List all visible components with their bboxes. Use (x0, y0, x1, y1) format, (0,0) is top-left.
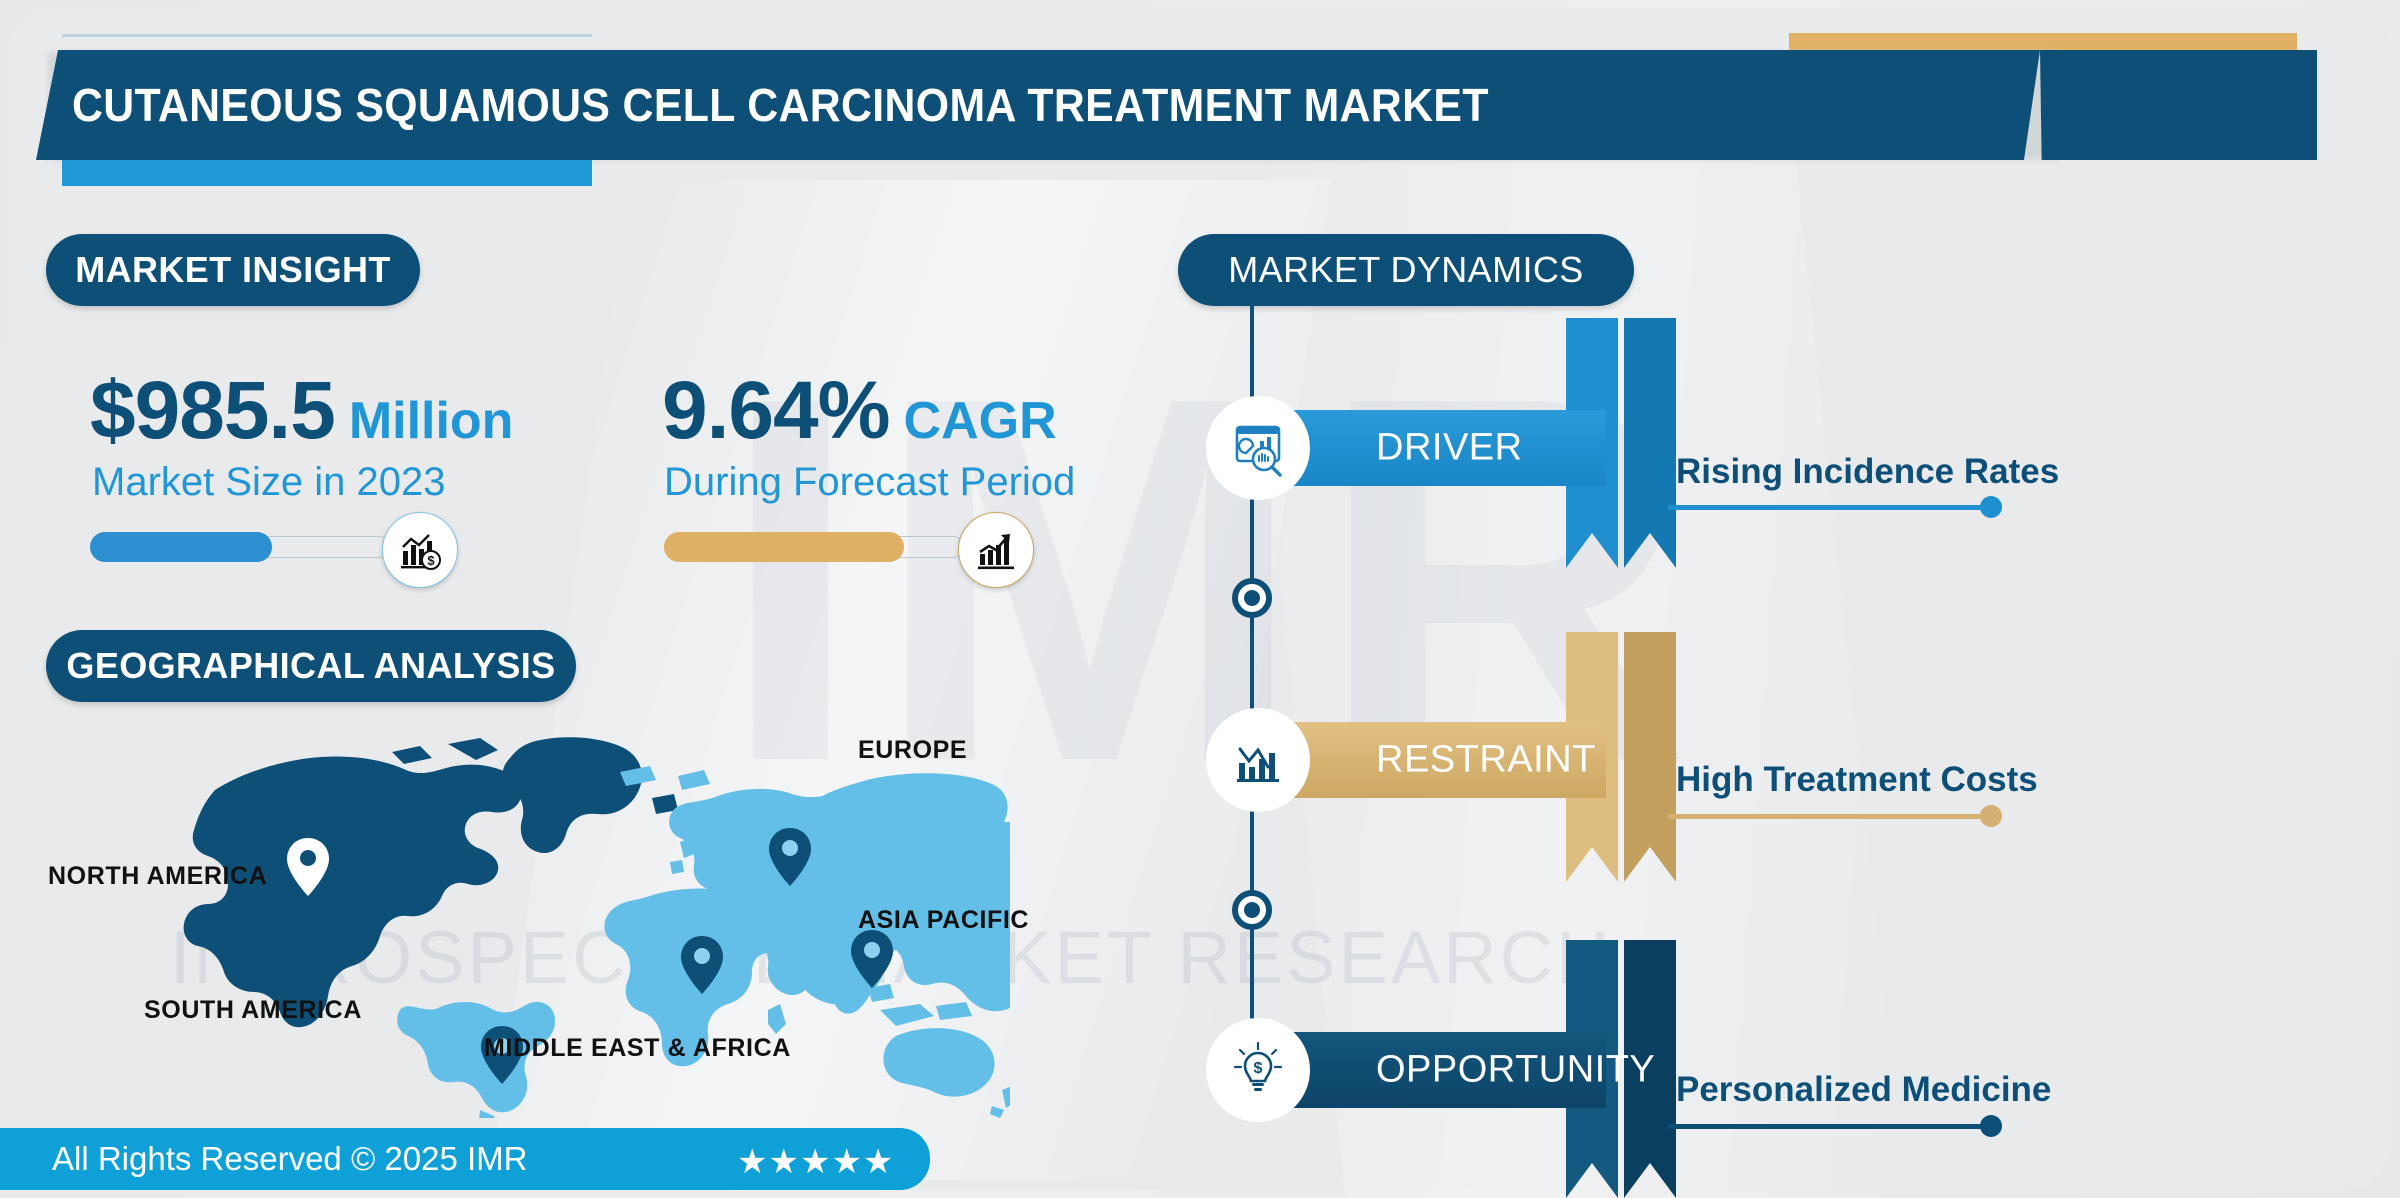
driver-bar: DRIVER (1258, 410, 1606, 486)
restraint-text: High Treatment Costs (1676, 760, 2038, 800)
map-label-middle-east-africa: MIDDLE EAST & AFRICA (484, 1034, 791, 1063)
opportunity-connector (1668, 1124, 1990, 1129)
driver-label: DRIVER (1376, 427, 1523, 470)
market-size-value-group: $985.5Million (90, 370, 513, 452)
opportunity-label: OPPORTUNITY (1376, 1049, 1655, 1092)
copyright-text: All Rights Reserved © 2025 IMR (52, 1140, 528, 1178)
cagr-unit: CAGR (904, 392, 1057, 450)
opportunity-text: Personalized Medicine (1676, 1070, 2051, 1110)
rating-stars: ★★★★★ (737, 1142, 894, 1182)
restraint-label: RESTRAINT (1376, 739, 1596, 782)
cagr-value-group: 9.64%CAGR (662, 370, 1057, 452)
lightbulb-dollar-icon: $ (1206, 1018, 1310, 1122)
chart-analysis-icon (1206, 396, 1310, 500)
restraint-endpoint-dot (1980, 805, 2002, 827)
page-title: CUTANEOUS SQUAMOUS CELL CARCINOMA TREATM… (72, 50, 1489, 160)
svg-text:$: $ (1254, 1060, 1263, 1077)
header-bar-right (2040, 50, 2317, 160)
market-insight-label: MARKET INSIGHT (75, 249, 391, 291)
driver-text: Rising Incidence Rates (1676, 452, 2059, 492)
market-size-caption: Market Size in 2023 (92, 460, 446, 505)
driver-connector (1668, 505, 1990, 510)
svg-text:$: $ (427, 553, 435, 568)
opportunity-endpoint-dot (1980, 1115, 2002, 1137)
map-label-europe: EUROPE (858, 736, 967, 765)
growth-arrow-icon (958, 512, 1034, 588)
declining-chart-icon (1206, 708, 1310, 812)
market-insight-pill: MARKET INSIGHT (46, 234, 420, 306)
header-blue-strip (62, 160, 592, 186)
restraint-bar: RESTRAINT (1258, 722, 1606, 798)
cagr-value: 9.64% (662, 365, 890, 456)
map-label-south-america: SOUTH AMERICA (144, 996, 362, 1025)
dynamics-node-1 (1232, 578, 1272, 618)
header-thin-rule (62, 34, 592, 37)
market-size-unit: Million (349, 392, 514, 450)
map-label-north-america: NORTH AMERICA (48, 862, 267, 891)
market-size-progress-fill (90, 532, 272, 562)
bar-chart-dollar-icon: $ (382, 512, 458, 588)
market-dynamics-label: MARKET DYNAMICS (1228, 249, 1583, 291)
opportunity-bar: $ OPPORTUNITY (1258, 1032, 1606, 1108)
geographical-analysis-pill: GEOGRAPHICAL ANALYSIS (46, 630, 576, 702)
market-size-value: $985.5 (90, 365, 335, 456)
driver-endpoint-dot (1980, 496, 2002, 518)
cagr-caption: During Forecast Period (664, 460, 1075, 505)
map-label-asia-pacific: ASIA PACIFIC (858, 906, 1029, 935)
cagr-progress-fill (664, 532, 904, 562)
restraint-connector (1668, 814, 1990, 819)
geographical-analysis-label: GEOGRAPHICAL ANALYSIS (66, 645, 555, 687)
dynamics-node-2 (1232, 890, 1272, 930)
market-dynamics-pill: MARKET DYNAMICS (1178, 234, 1634, 306)
